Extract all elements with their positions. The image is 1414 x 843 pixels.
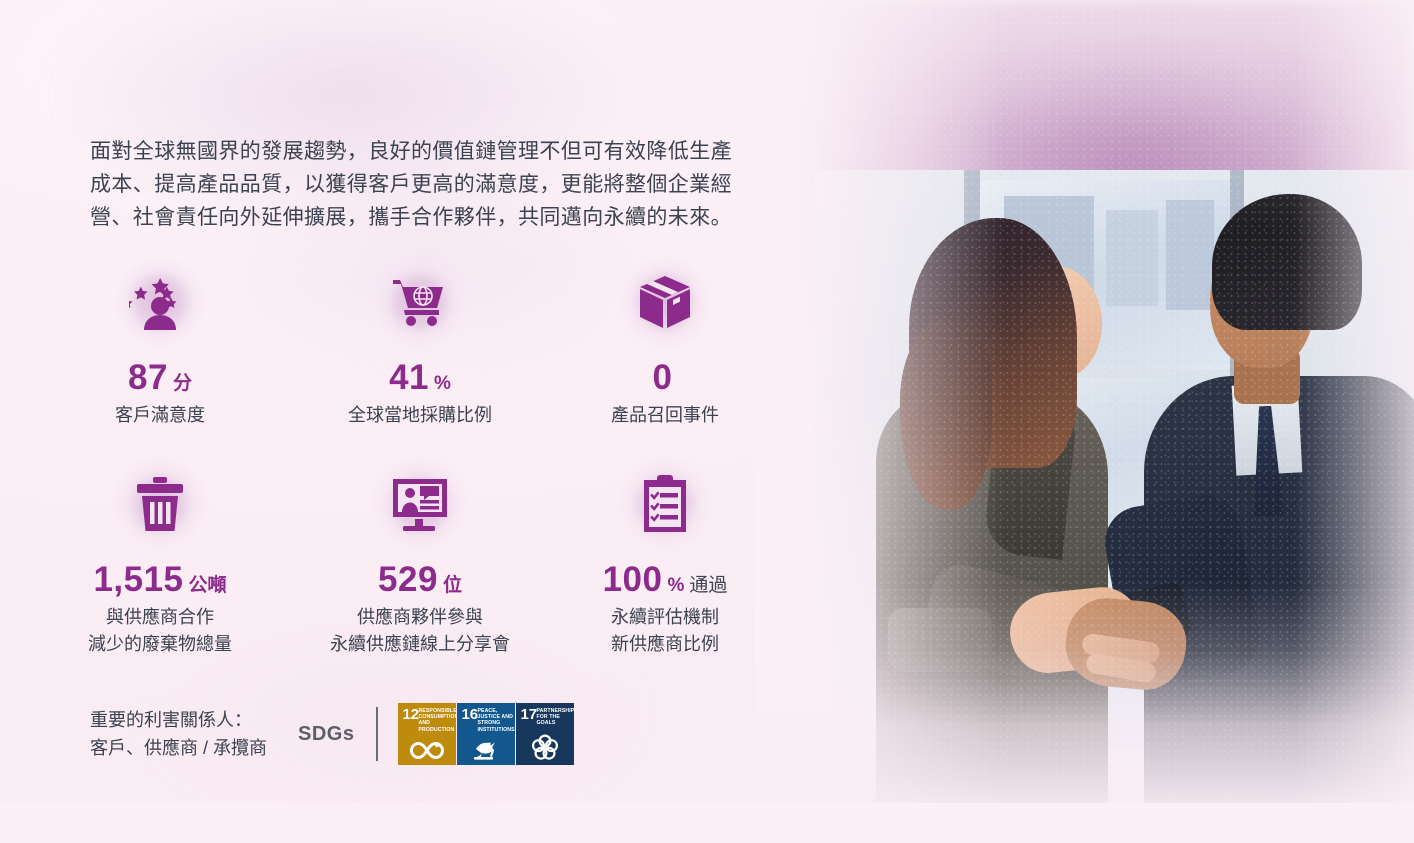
stat-waste-reduction: 1,515 公噸 與供應商合作 減少的廢棄物總量 (40, 458, 280, 658)
stat-value: 41 % (300, 360, 540, 395)
sdg-title: PARTNERSHIPS FOR THE GOALS (536, 708, 572, 727)
stat-unit: 位 (443, 576, 462, 595)
stat-customer-satisfaction: 87 分 客戶滿意度 (40, 256, 280, 429)
photo-fade-right (1294, 0, 1414, 803)
stat-caption: 全球當地採購比例 (300, 402, 540, 429)
sdg-tile-17[interactable]: 17 PARTNERSHIPS FOR THE GOALS (516, 703, 574, 765)
stat-number: 529 (378, 562, 438, 597)
stat-local-procurement: 41 % 全球當地採購比例 (300, 256, 540, 429)
stakeholder-title: 重要的利害關係人： (90, 706, 280, 734)
stats-row-2: 1,515 公噸 與供應商合作 減少的廢棄物總量 (0, 458, 780, 664)
stat-value: 529 位 (300, 562, 540, 597)
stat-supplier-assessment: 100 % 通過 永續評估機制 新供應商比例 (545, 458, 785, 658)
sdg-tiles: 12 RESPONSIBLE CONSUMPTION AND PRODUCTIO… (398, 703, 574, 765)
sdg-number: 16 (461, 707, 478, 722)
stat-number: 100 (603, 562, 663, 597)
presentation-screen-icon (374, 458, 466, 550)
stat-caption: 與供應商合作 減少的廢棄物總量 (40, 604, 280, 658)
business-handshake-photo (754, 0, 1414, 803)
sdg-number: 17 (520, 707, 537, 722)
intro-paragraph: 面對全球無國界的發展趨勢，良好的價值鏈管理不但可有效降低生產成本、提高產品品質，… (90, 135, 742, 234)
stat-caption: 永續評估機制 新供應商比例 (545, 604, 785, 658)
stat-unit: 分 (173, 374, 192, 393)
stat-caption: 產品召回事件 (545, 402, 785, 429)
sdg-title: PEACE, JUSTICE AND STRONG INSTITUTIONS (477, 708, 513, 733)
footer-bar: 重要的利害關係人： 客戶、供應商 / 承攬商 SDGs 12 RESPONSIB… (90, 703, 574, 765)
sdg-title: RESPONSIBLE CONSUMPTION AND PRODUCTION (418, 708, 454, 733)
dove-gavel-icon (457, 737, 515, 761)
interlocking-circles-icon (516, 733, 574, 761)
stat-product-recall: 0 產品召回事件 (545, 256, 785, 429)
person-stars-icon (114, 256, 206, 348)
shopping-cart-globe-icon (374, 256, 466, 348)
stat-number: 1,515 (93, 562, 183, 597)
stat-caption: 供應商夥伴參與 永續供應鏈線上分享會 (300, 604, 540, 658)
sdg-number: 12 (402, 707, 419, 722)
footer-divider (376, 707, 378, 761)
stakeholder-block: 重要的利害關係人： 客戶、供應商 / 承攬商 (90, 706, 280, 762)
stat-value: 87 分 (40, 360, 280, 395)
stat-supplier-webinar: 529 位 供應商夥伴參與 永續供應鏈線上分享會 (300, 458, 540, 658)
package-box-icon (619, 256, 711, 348)
stat-unit-secondary: 通過 (689, 576, 727, 595)
stat-unit: 公噸 (189, 576, 227, 595)
infinity-icon (398, 740, 456, 761)
stat-unit: % (434, 374, 451, 393)
clipboard-checklist-icon (619, 458, 711, 550)
stats-grid: 87 分 客戶滿意度 (0, 256, 780, 664)
stat-value: 0 (545, 360, 785, 395)
sdgs-label: SDGs (298, 723, 354, 746)
stat-number: 41 (389, 360, 429, 395)
trash-bin-icon (114, 458, 206, 550)
stat-value: 1,515 公噸 (40, 562, 280, 597)
stakeholder-list: 客戶、供應商 / 承攬商 (90, 734, 280, 762)
stat-caption: 客戶滿意度 (40, 402, 280, 429)
stat-number: 0 (653, 360, 673, 395)
stats-row-1: 87 分 客戶滿意度 (0, 256, 780, 462)
sdg-tile-12[interactable]: 12 RESPONSIBLE CONSUMPTION AND PRODUCTIO… (398, 703, 456, 765)
stat-value: 100 % 通過 (545, 562, 785, 597)
sdg-tile-16[interactable]: 16 PEACE, JUSTICE AND STRONG INSTITUTION… (457, 703, 515, 765)
main-content: 面對全球無國界的發展趨勢，良好的價值鏈管理不但可有效降低生產成本、提高產品品質，… (0, 0, 780, 803)
stat-number: 87 (128, 360, 168, 395)
stat-unit: % (667, 576, 684, 595)
